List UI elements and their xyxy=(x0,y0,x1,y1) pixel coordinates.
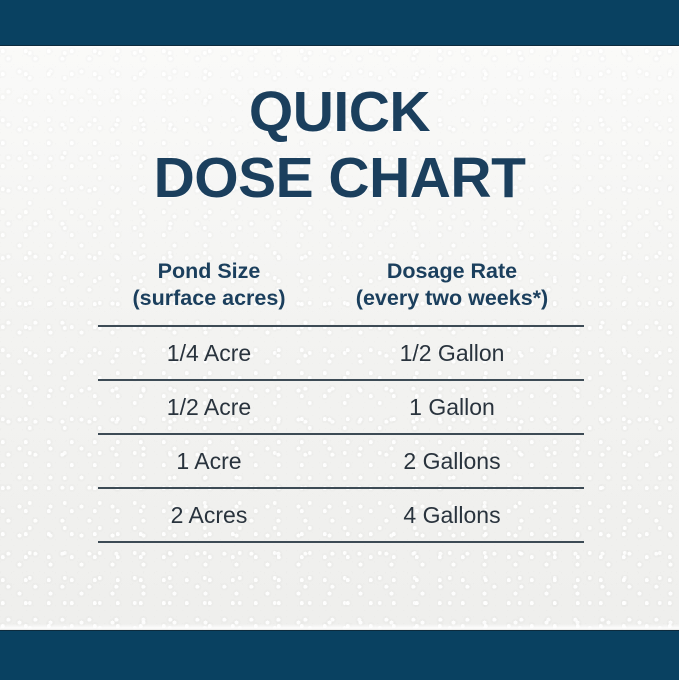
table-header-row: Pond Size (surface acres) Dosage Rate (e… xyxy=(98,258,584,326)
cell-dosage-rate: 4 Gallons xyxy=(320,488,584,542)
table-body: 1/4 Acre 1/2 Gallon 1/2 Acre 1 Gallon 1 … xyxy=(98,326,584,542)
cell-pond-size: 1 Acre xyxy=(98,434,320,488)
table-row: 1/2 Acre 1 Gallon xyxy=(98,380,584,434)
column-header-pond-size: Pond Size (surface acres) xyxy=(98,258,320,326)
cell-pond-size: 1/2 Acre xyxy=(98,380,320,434)
top-navy-band xyxy=(0,0,679,46)
table-row: 1 Acre 2 Gallons xyxy=(98,434,584,488)
column-header-pond-size-line1: Pond Size xyxy=(98,258,320,285)
bottom-navy-band xyxy=(0,630,679,680)
page-title: QUICK DOSE CHART xyxy=(0,84,679,207)
table-header: Pond Size (surface acres) Dosage Rate (e… xyxy=(98,258,584,326)
table-row: 2 Acres 4 Gallons xyxy=(98,488,584,542)
cell-dosage-rate: 1/2 Gallon xyxy=(320,326,584,380)
table-row: 1/4 Acre 1/2 Gallon xyxy=(98,326,584,380)
column-header-dosage-rate-line2: (every two weeks*) xyxy=(320,285,584,312)
column-header-dosage-rate-line1: Dosage Rate xyxy=(320,258,584,285)
dose-chart-table: Pond Size (surface acres) Dosage Rate (e… xyxy=(98,258,584,543)
quick-dose-chart-poster: QUICK DOSE CHART Pond Size (surface acre… xyxy=(0,0,679,679)
column-header-pond-size-line2: (surface acres) xyxy=(98,285,320,312)
cell-dosage-rate: 2 Gallons xyxy=(320,434,584,488)
cell-pond-size: 2 Acres xyxy=(98,488,320,542)
cell-pond-size: 1/4 Acre xyxy=(98,326,320,380)
title-line-2: DOSE CHART xyxy=(0,150,679,207)
title-line-1: QUICK xyxy=(0,84,679,141)
cell-dosage-rate: 1 Gallon xyxy=(320,380,584,434)
top-band-highlight xyxy=(0,46,679,49)
column-header-dosage-rate: Dosage Rate (every two weeks*) xyxy=(320,258,584,326)
